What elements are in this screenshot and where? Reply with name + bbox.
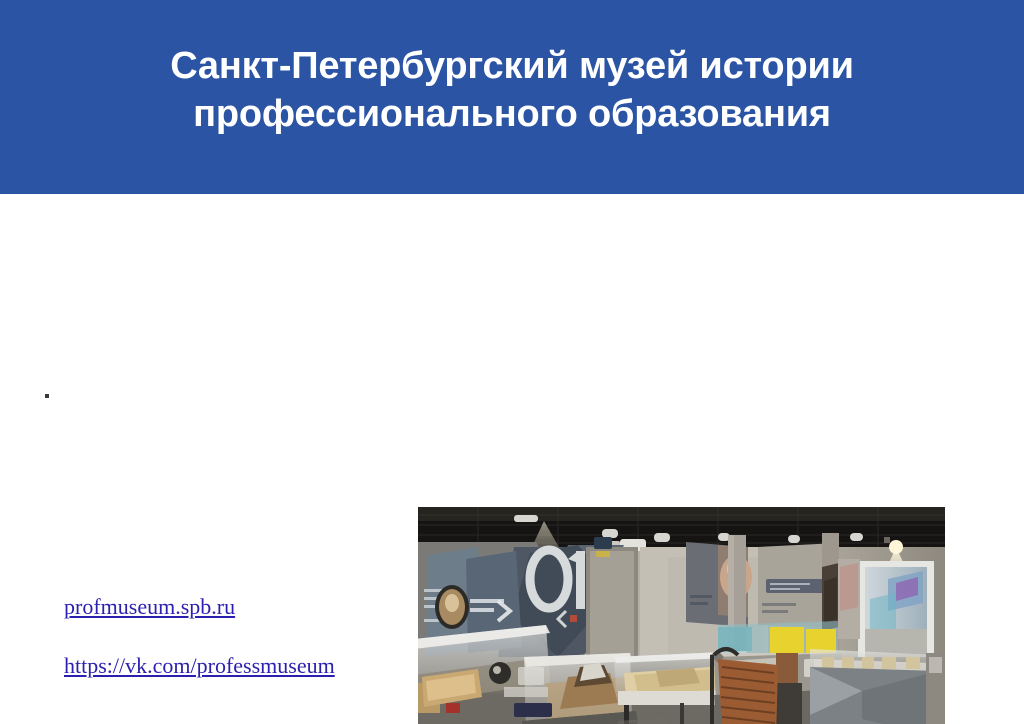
page-title-line-1: Санкт-Петербургский музей истории xyxy=(72,42,952,90)
page-title-line-2: профессионального образования xyxy=(72,90,952,138)
link-vk-community[interactable]: https://vk.com/professmuseum xyxy=(64,653,335,679)
slide-body: . profmuseum.spb.ru https://vk.com/profe… xyxy=(0,194,1024,724)
bullet-marker: . xyxy=(45,394,49,398)
museum-hall-illustration xyxy=(418,507,945,724)
link-list: profmuseum.spb.ru https://vk.com/profess… xyxy=(64,594,394,712)
presentation-slide: Санкт-Петербургский музей истории профес… xyxy=(0,0,1024,724)
slide-header-banner: Санкт-Петербургский музей истории профес… xyxy=(0,0,1024,194)
page-title: Санкт-Петербургский музей истории профес… xyxy=(72,42,952,152)
list-item: profmuseum.spb.ru xyxy=(64,594,394,620)
museum-exhibition-hall-photo xyxy=(418,507,945,724)
list-item: https://vk.com/professmuseum xyxy=(64,653,394,679)
link-profmuseum-website[interactable]: profmuseum.spb.ru xyxy=(64,594,235,620)
